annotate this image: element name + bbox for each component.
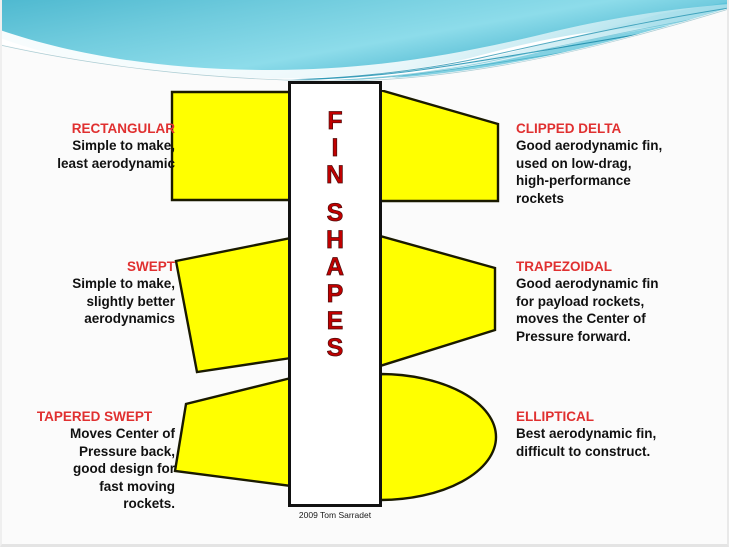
label-elliptical-line-1: Best aerodynamic fin,: [516, 425, 716, 443]
label-elliptical-title: ELLIPTICAL: [516, 408, 716, 425]
label-trapezoidal-line-3: moves the Center of: [516, 310, 716, 328]
fin-letter-f: F: [327, 108, 342, 135]
label-tapered-swept-line-2: Pressure back,: [14, 443, 175, 461]
label-tapered-swept-line-3: good design for: [14, 460, 175, 478]
shape-trapezoidal: [380, 236, 495, 366]
label-trapezoidal-line-1: Good aerodynamic fin: [516, 275, 716, 293]
label-clipped-delta-line-2: used on low-drag,: [516, 155, 716, 173]
label-rectangular-line-1: Simple to make,: [20, 137, 175, 155]
label-swept-line-3: aerodynamics: [36, 310, 175, 328]
center-title-panel: F I N S H A P E S: [288, 81, 382, 507]
shape-clipped-delta: [380, 90, 498, 201]
fin-letter-h: H: [326, 227, 344, 254]
slide-canvas: F I N S H A P E S 2009 Tom Sarradet RECT…: [0, 0, 729, 547]
wave-header-graphic: [0, 0, 729, 90]
label-swept: SWEPT Simple to make, slightly better ae…: [36, 258, 175, 328]
label-clipped-delta-line-3: high-performance: [516, 172, 716, 190]
label-elliptical-line-2: difficult to construct.: [516, 443, 716, 461]
fin-letter-n: N: [326, 162, 344, 189]
label-tapered-swept-line-1: Moves Center of: [14, 425, 175, 443]
shape-swept: [176, 238, 291, 372]
fin-letter-i: I: [332, 135, 339, 162]
label-tapered-swept-line-5: rockets.: [14, 495, 175, 513]
label-rectangular-line-2: least aerodynamic: [20, 155, 175, 173]
shape-rectangular: [172, 92, 291, 200]
label-elliptical: ELLIPTICAL Best aerodynamic fin, difficu…: [516, 408, 716, 460]
label-trapezoidal-line-4: Pressure forward.: [516, 328, 716, 346]
label-tapered-swept-line-4: fast moving: [14, 478, 175, 496]
credit-line: 2009 Tom Sarradet: [288, 510, 382, 520]
label-swept-line-1: Simple to make,: [36, 275, 175, 293]
label-rectangular: RECTANGULAR Simple to make, least aerody…: [20, 120, 175, 172]
shape-tapered-swept: [175, 378, 291, 486]
fin-letter-p: P: [327, 281, 344, 308]
shape-elliptical: [380, 374, 496, 500]
fin-letter-s1: S: [327, 200, 344, 227]
fin-letter-a: A: [326, 254, 344, 281]
label-clipped-delta-line-1: Good aerodynamic fin,: [516, 137, 716, 155]
label-tapered-swept-title: TAPERED SWEPT: [14, 408, 175, 425]
label-swept-title: SWEPT: [36, 258, 175, 275]
label-tapered-swept: TAPERED SWEPT Moves Center of Pressure b…: [14, 408, 175, 513]
fin-letter-e: E: [327, 308, 344, 335]
label-trapezoidal-title: TRAPEZOIDAL: [516, 258, 716, 275]
label-swept-line-2: slightly better: [36, 293, 175, 311]
label-trapezoidal-line-2: for payload rockets,: [516, 293, 716, 311]
label-clipped-delta-line-4: rockets: [516, 190, 716, 208]
label-clipped-delta-title: CLIPPED DELTA: [516, 120, 716, 137]
label-trapezoidal: TRAPEZOIDAL Good aerodynamic fin for pay…: [516, 258, 716, 345]
label-rectangular-title: RECTANGULAR: [20, 120, 175, 137]
fin-letter-s2: S: [327, 335, 344, 362]
label-clipped-delta: CLIPPED DELTA Good aerodynamic fin, used…: [516, 120, 716, 207]
